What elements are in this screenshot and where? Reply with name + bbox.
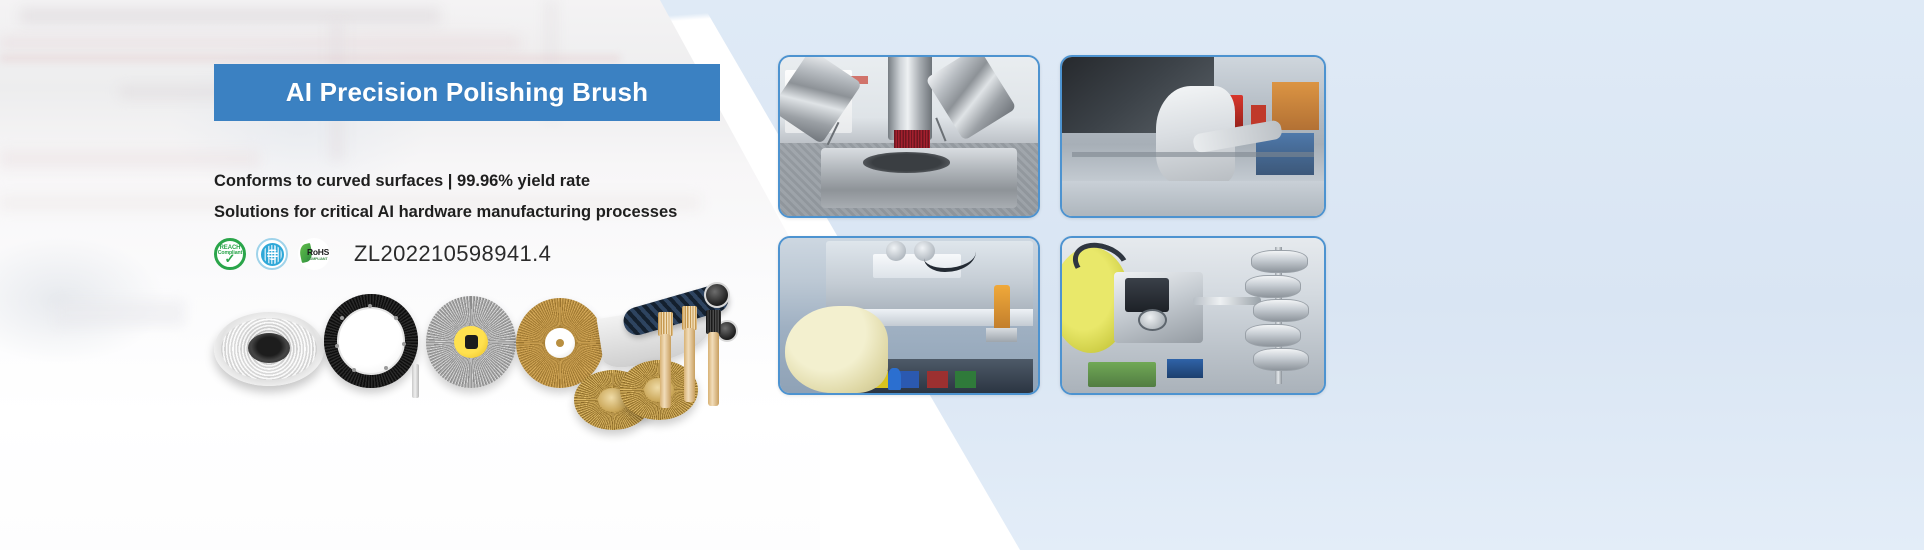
blue-compliance-seal-icon	[256, 238, 288, 270]
photo-cnc-robot-crankshaft[interactable]	[1060, 236, 1326, 395]
rohs-badge-label-top: RoHS	[307, 247, 329, 257]
banner-title-block: AI Precision Polishing Brush	[214, 64, 720, 121]
application-photo-grid	[778, 55, 1326, 395]
product-small-post	[412, 364, 419, 398]
product-mini-brush-set	[658, 306, 754, 424]
photo-robotic-dispensing-needles[interactable]	[778, 55, 1040, 218]
photo-foam-pad-polishing[interactable]	[778, 236, 1040, 395]
banner-left-content: AI Precision Polishing Brush Conforms to…	[0, 0, 760, 550]
subtitle-line-1: Conforms to curved surfaces | 99.96% yie…	[214, 166, 754, 197]
product-black-ring-brush	[324, 294, 418, 388]
reach-compliant-icon: REACH Compliant ✓	[214, 238, 246, 270]
rohs-badge-label-bottom: COMPLIANT	[307, 257, 327, 261]
promotional-banner: AI Precision Polishing Brush Conforms to…	[0, 0, 1924, 550]
banner-subtitle-block: Conforms to curved surfaces | 99.96% yie…	[214, 166, 754, 228]
patent-number: ZL202210598941.4	[354, 241, 551, 267]
check-icon: ✓	[217, 253, 243, 265]
photo-automotive-robot-line[interactable]	[1060, 55, 1326, 218]
product-grey-cylinder-brush	[426, 296, 516, 388]
certification-row: REACH Compliant ✓ RoHS COMPLIANT ZL20221…	[214, 238, 551, 270]
product-photo-strip	[196, 278, 756, 428]
product-white-disc-brush	[214, 306, 324, 396]
subtitle-line-2: Solutions for critical AI hardware manuf…	[214, 197, 754, 228]
rohs-compliant-icon: RoHS COMPLIANT	[298, 238, 330, 270]
page-title: AI Precision Polishing Brush	[286, 77, 648, 108]
